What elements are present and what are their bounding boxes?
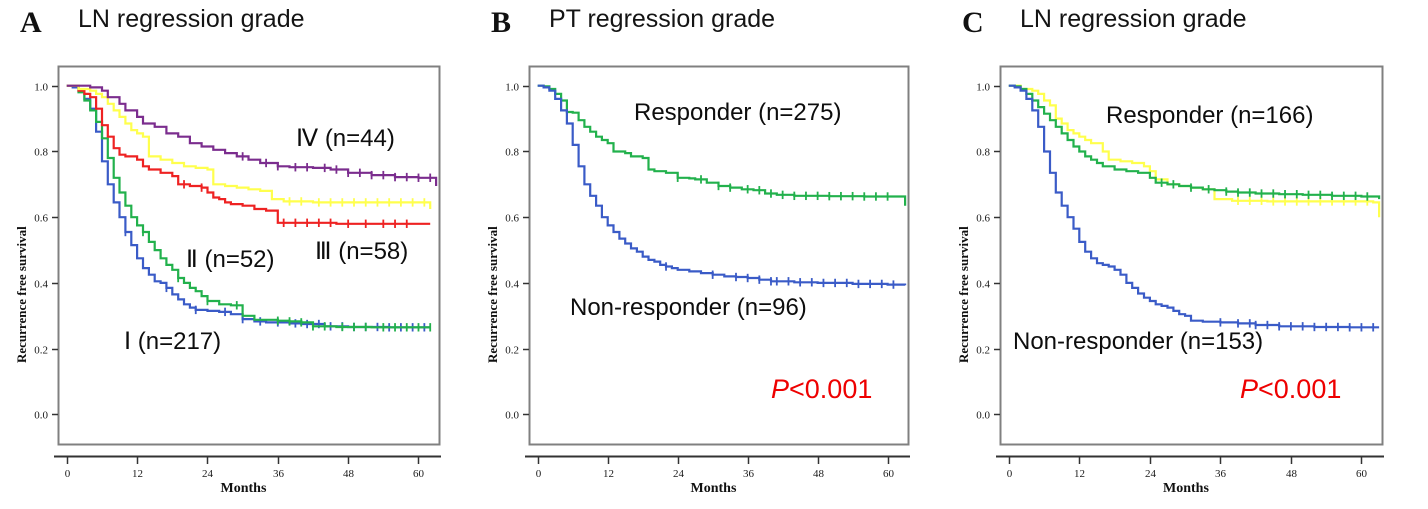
y-tick-label: 0.2 [976,345,990,357]
p-value-text: P<0.001 [1240,376,1341,403]
x-tick-label: 0 [1007,468,1013,480]
x-tick-label: 36 [1215,468,1227,480]
y-tick-label: 0.6 [976,213,990,225]
label-responder: Responder (n=166) [1106,104,1313,128]
plot-area: 1.00.80.60.40.20.001224364860 [0,0,1428,509]
p-value-symbol: P [1240,374,1258,404]
x-tick-label: 60 [1356,468,1368,480]
y-tick-label: 1.0 [976,82,990,94]
y-tick-label: 0.0 [976,410,990,422]
x-tick-label: 12 [1074,468,1085,480]
y-tick-label: 0.4 [976,279,990,291]
p-value-number: <0.001 [1258,374,1341,404]
figure-root: ALN regression gradeRecurrence free surv… [0,0,1428,509]
y-tick-label: 0.8 [976,147,990,159]
x-tick-label: 24 [1145,468,1157,480]
x-tick-label: 48 [1286,468,1298,480]
panel-c: CLN regression gradeRecurrence free surv… [0,0,1428,509]
label-non-responder: Non-responder (n=153) [1013,330,1263,354]
